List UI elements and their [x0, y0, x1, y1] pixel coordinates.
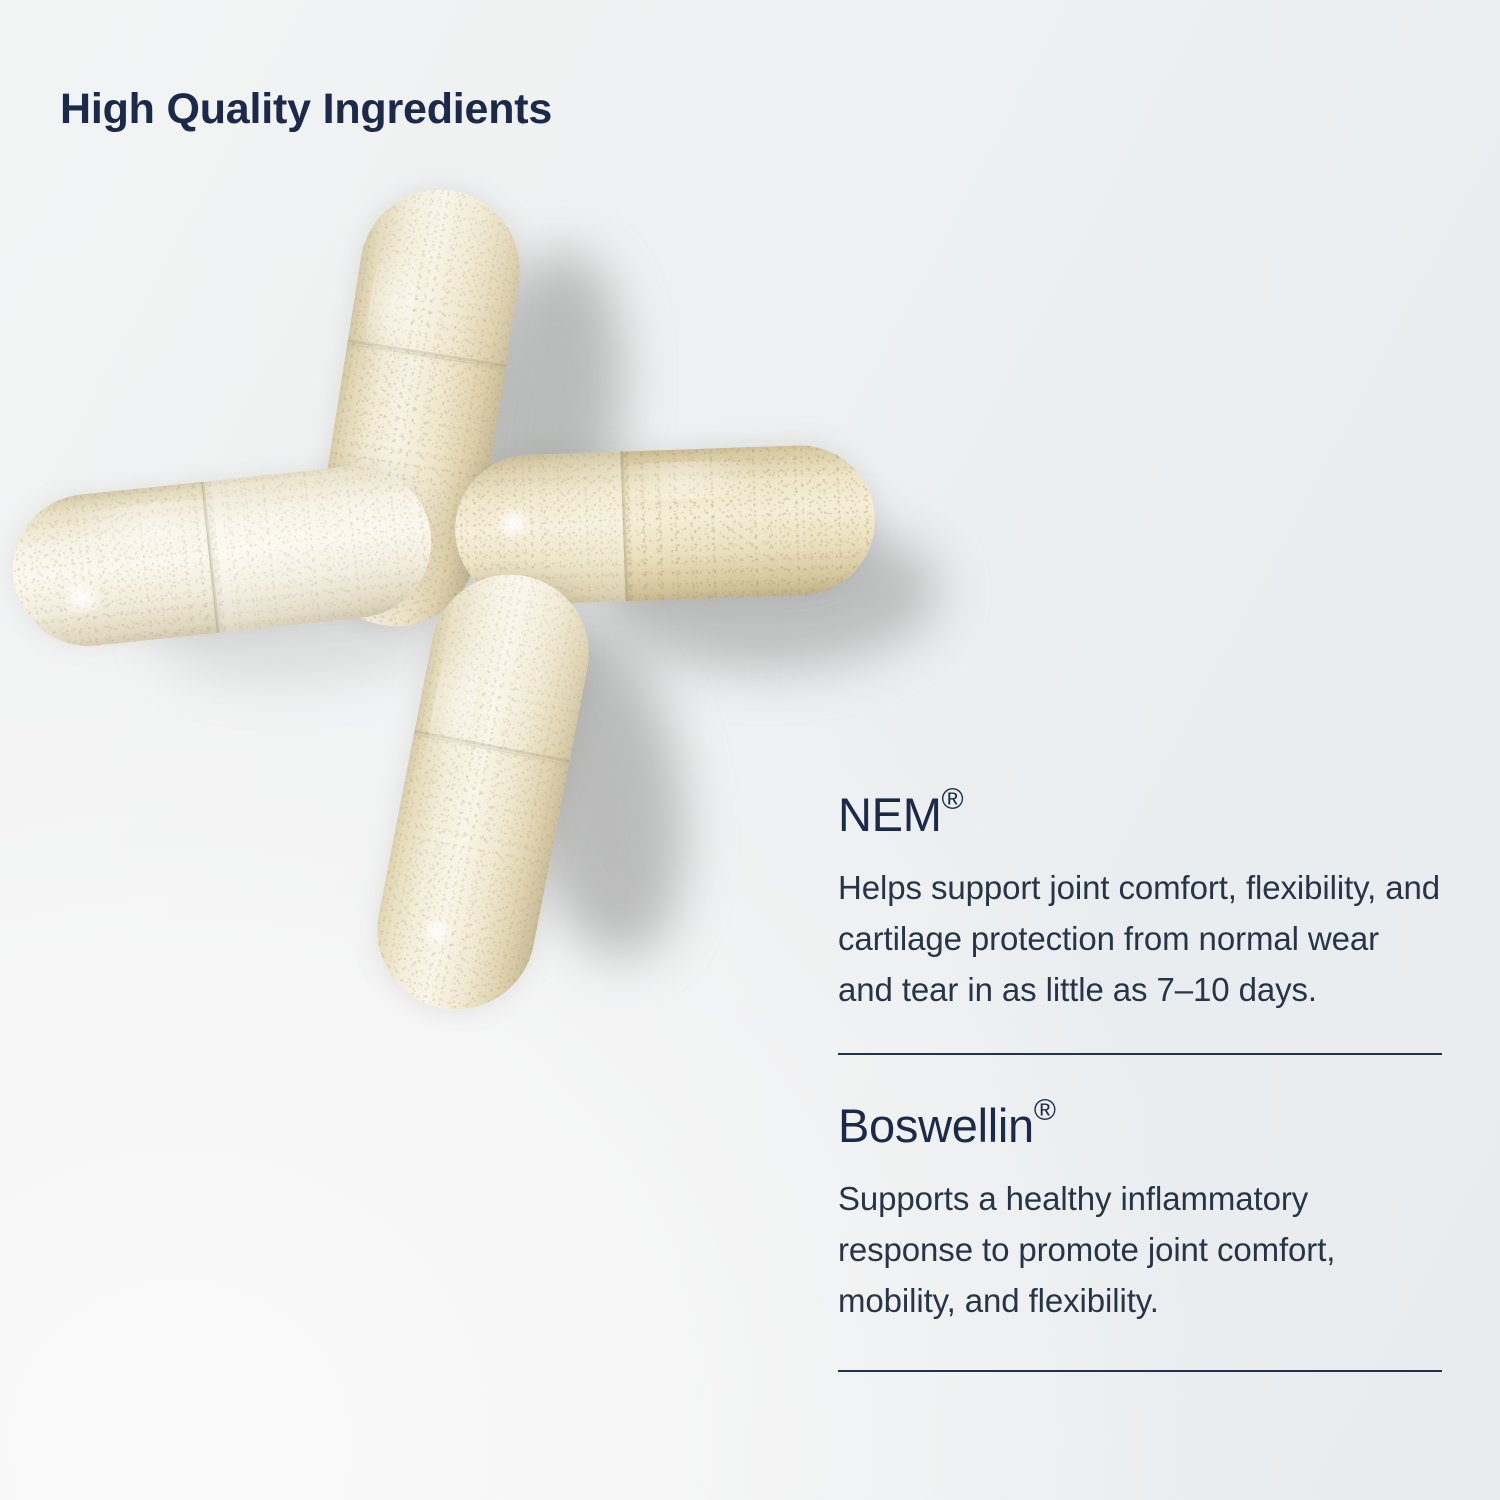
ingredient-item-nem: NEM® Helps support joint comfort, flexib… [838, 784, 1442, 1015]
divider-top [838, 1053, 1442, 1055]
capsule-photo [0, 140, 980, 1040]
ingredient-list: NEM® Helps support joint comfort, flexib… [838, 784, 1442, 1372]
ingredient-item-boswellin: Boswellin® Supports a healthy inflammato… [838, 1095, 1442, 1326]
page-title: High Quality Ingredients [60, 85, 552, 134]
divider-bottom [838, 1370, 1442, 1372]
ingredients-panel: High Quality Ingredients [0, 0, 1500, 1500]
registered-trademark-icon: ® [1034, 1094, 1056, 1127]
capsule-cross-arrangement [0, 140, 980, 1040]
registered-trademark-icon: ® [942, 783, 964, 816]
ingredient-name-boswellin: Boswellin® [838, 1095, 1442, 1151]
ingredient-name-nem-text: NEM [838, 788, 942, 841]
ingredient-name-nem: NEM® [838, 784, 1442, 840]
ingredient-description-nem: Helps support joint comfort, flexibility… [838, 862, 1442, 1015]
ingredient-name-boswellin-text: Boswellin [838, 1099, 1034, 1152]
capsule-left-cap [202, 458, 439, 632]
ingredient-description-boswellin: Supports a healthy inflammatory response… [838, 1173, 1442, 1326]
